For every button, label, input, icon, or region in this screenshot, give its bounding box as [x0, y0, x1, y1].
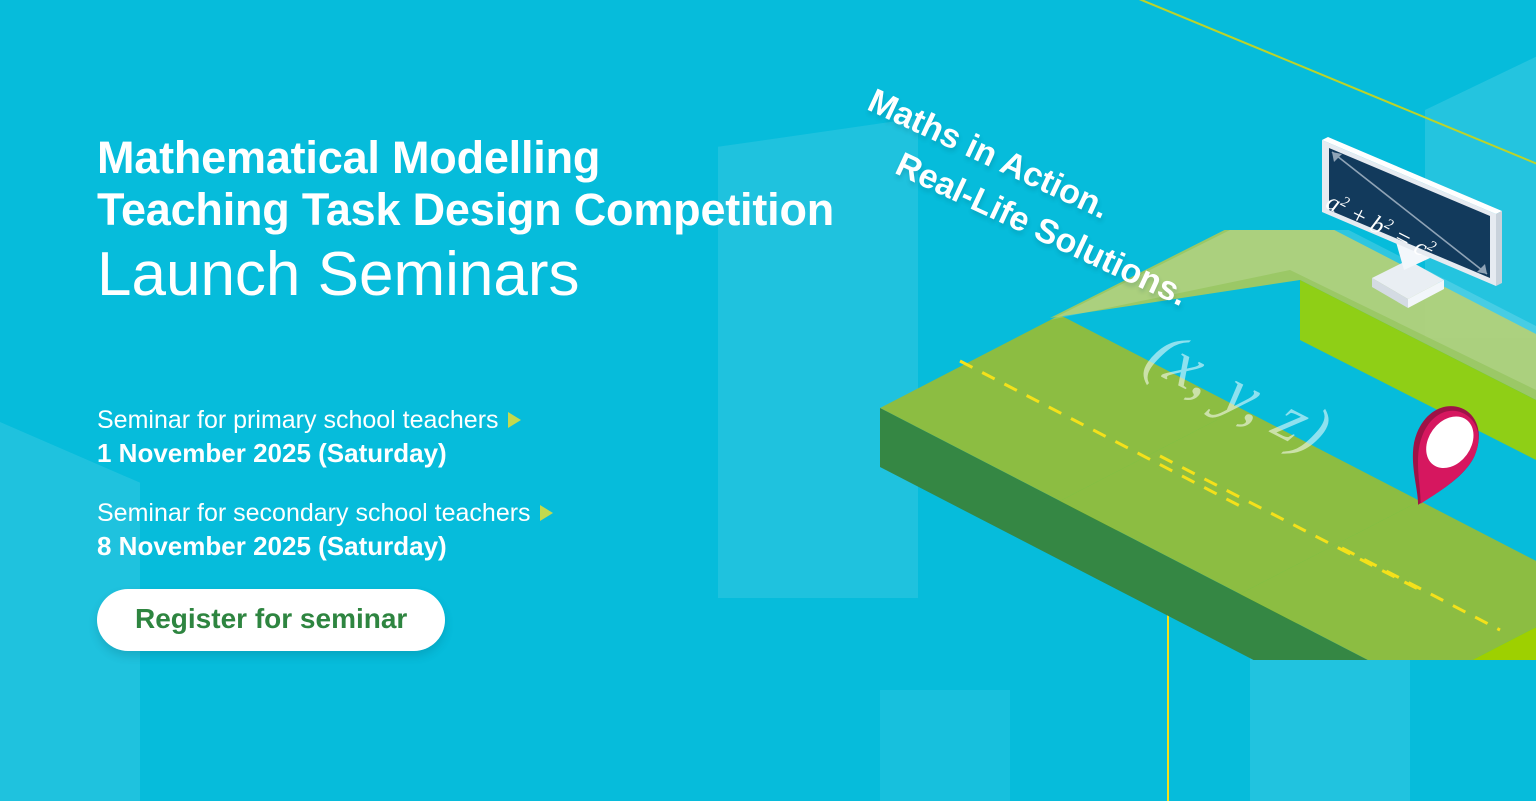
- seminar-secondary-label: Seminar for secondary school teachers: [97, 497, 531, 529]
- seminar-item-secondary: Seminar for secondary school teachers 8 …: [97, 497, 553, 563]
- headline-line-3: Launch Seminars: [97, 238, 927, 312]
- headline-block: Mathematical Modelling Teaching Task Des…: [97, 132, 927, 312]
- seminar-list: Seminar for primary school teachers 1 No…: [97, 404, 553, 651]
- seminar-primary-date: 1 November 2025 (Saturday): [97, 436, 553, 470]
- computer-monitor-illustration: [1296, 118, 1536, 328]
- seminar-primary-label: Seminar for primary school teachers: [97, 404, 499, 436]
- triangle-right-icon: [540, 505, 553, 521]
- background-shape-bottom-center: [880, 690, 1010, 801]
- seminar-primary-row: Seminar for primary school teachers: [97, 404, 553, 436]
- promotional-banner: (x, y, z): [0, 0, 1536, 801]
- headline-line-1: Mathematical Modelling: [97, 132, 927, 184]
- triangle-right-icon: [508, 412, 521, 428]
- seminar-secondary-row: Seminar for secondary school teachers: [97, 497, 553, 529]
- register-for-seminar-button[interactable]: Register for seminar: [97, 589, 445, 651]
- headline-line-2: Teaching Task Design Competition: [97, 184, 927, 236]
- map-pin-icon: [1382, 398, 1492, 513]
- seminar-secondary-date: 8 November 2025 (Saturday): [97, 529, 553, 563]
- seminar-item-primary: Seminar for primary school teachers 1 No…: [97, 404, 553, 470]
